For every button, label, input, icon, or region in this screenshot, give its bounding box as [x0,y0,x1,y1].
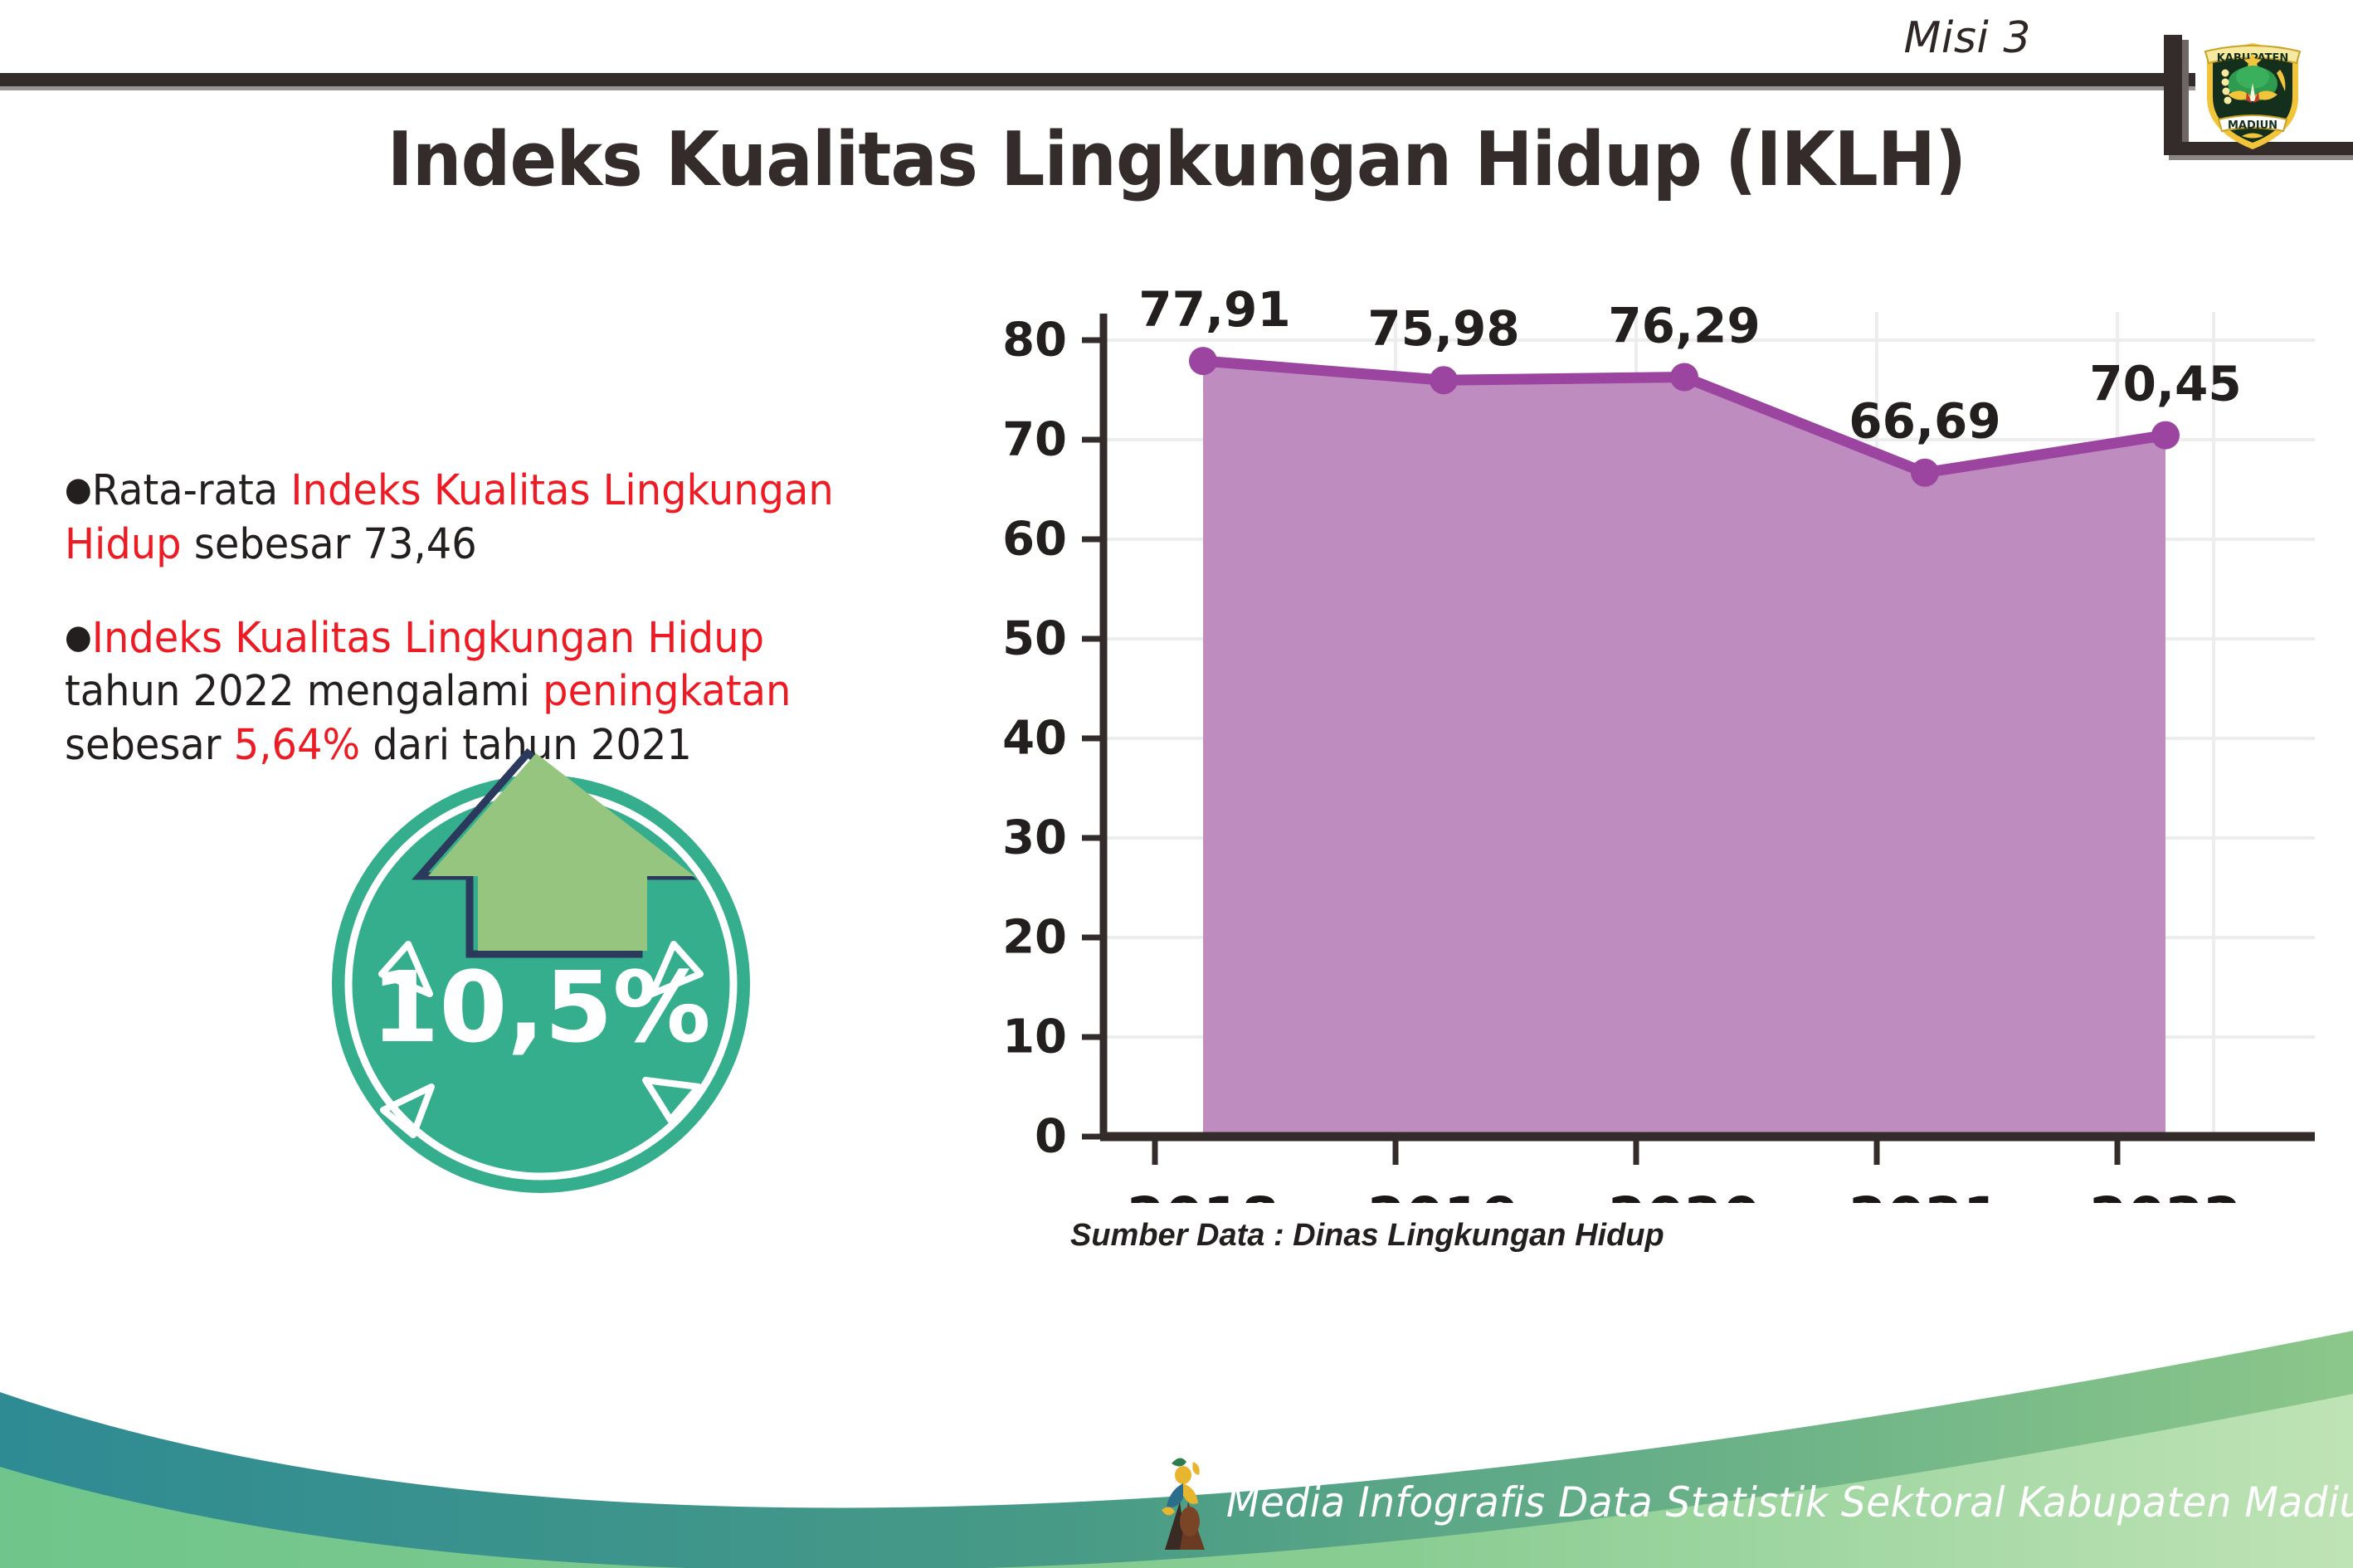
svg-text:70,45: 70,45 [2089,356,2241,412]
bullet-marker: ● [65,618,92,656]
svg-text:77,91: 77,91 [1138,290,1290,338]
bullet-2-segment-3: sebesar [65,721,234,770]
media-infografis-figure-icon [1147,1450,1223,1558]
increase-badge: 10,5% [315,745,767,1197]
bullet-marker: ● [65,470,92,509]
svg-text:60: 60 [1002,513,1067,567]
svg-text:2022: 2022 [2089,1186,2242,1203]
bullet-1-segment-0: Rata-rata [92,466,291,515]
svg-text:2019: 2019 [1367,1186,1520,1203]
svg-text:30: 30 [1002,811,1067,865]
svg-text:2020: 2020 [1608,1186,1761,1203]
svg-text:10: 10 [1002,1010,1067,1064]
svg-text:0: 0 [1035,1110,1067,1164]
svg-text:2021: 2021 [1849,1186,2001,1203]
chart-x-tick-labels: 20182019202020212022 [1127,1186,2242,1203]
chart-y-tick-labels: 01020304050607080 [1002,314,1067,1164]
bullet-1-segment-2: sebesar 73,46 [182,520,477,569]
header-divider-shadow [0,86,2195,90]
svg-text:75,98: 75,98 [1367,300,1519,357]
page-title: Indeks Kualitas Lingkungan Hidup (IKLH) [82,116,2270,203]
svg-text:80: 80 [1002,314,1067,368]
misi-label: Misi 3 [1904,13,2031,63]
svg-text:2018: 2018 [1127,1186,1279,1203]
bullet-item-1: ●Rata-rata Indeks Kualitas Lingkungan Hi… [65,465,868,572]
svg-text:40: 40 [1002,712,1067,766]
badge-value-label: 10,5% [371,950,710,1064]
bullet-2-segment-2: peningkatan [543,667,791,716]
svg-text:20: 20 [1002,911,1067,965]
svg-text:66,69: 66,69 [1849,393,2000,450]
footer-caption: Media Infografis Data Statistik Sektoral… [1226,1478,2353,1527]
chart-area-fill [1203,361,2165,1137]
svg-text:50: 50 [1002,612,1067,666]
chart-canvas: 01020304050607080 20182019202020212022 7… [954,290,2353,1203]
chart-source-note: Sumber Data : Dinas Lingkungan Hidup [1070,1218,1664,1254]
svg-text:70: 70 [1002,413,1067,467]
header-divider-rule [0,73,2195,86]
svg-text:76,29: 76,29 [1608,298,1760,354]
bullet-2-segment-0: Indeks Kualitas Lingkungan Hidup [92,614,764,663]
iklh-area-chart: 01020304050607080 20182019202020212022 7… [954,290,2353,1203]
bullet-2-segment-1: tahun 2022 mengalami [65,667,543,716]
